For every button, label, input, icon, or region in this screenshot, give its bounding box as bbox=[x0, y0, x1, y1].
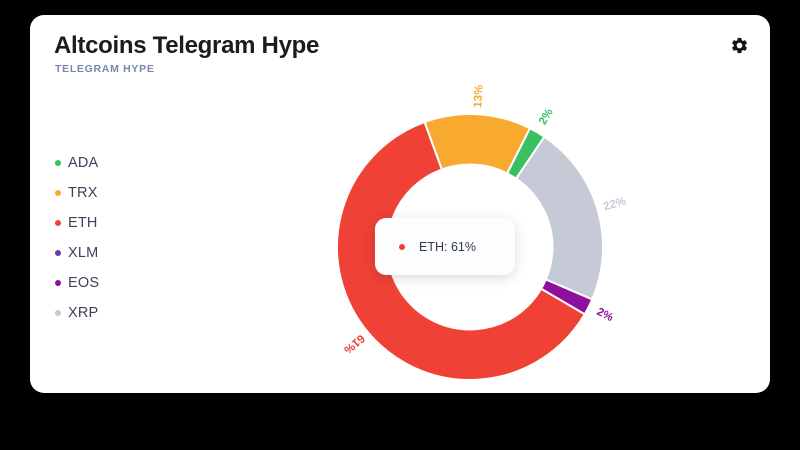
donut-slice[interactable] bbox=[516, 137, 603, 300]
legend-color-dot bbox=[55, 220, 61, 226]
legend-color-dot bbox=[55, 250, 61, 256]
legend-item-trx[interactable]: TRX bbox=[55, 178, 175, 208]
donut-slice-label: 2% bbox=[595, 306, 615, 324]
legend-item-eth[interactable]: ETH bbox=[55, 208, 175, 238]
legend-item-xlm[interactable]: XLM bbox=[55, 238, 175, 268]
settings-button[interactable] bbox=[726, 35, 752, 61]
legend-item-eos[interactable]: EOS bbox=[55, 268, 175, 298]
legend-color-dot bbox=[55, 310, 61, 316]
legend-color-dot bbox=[55, 190, 61, 196]
chart-card: Altcoins Telegram Hype TELEGRAM HYPE ADA… bbox=[30, 15, 770, 393]
legend-item-label: EOS bbox=[68, 275, 99, 291]
legend-item-label: ETH bbox=[68, 215, 98, 231]
legend-item-ada[interactable]: ADA bbox=[55, 148, 175, 178]
donut-slice-label: 22% bbox=[602, 195, 627, 213]
donut-slice-label: 2% bbox=[537, 107, 556, 127]
legend-item-label: XRP bbox=[68, 305, 98, 321]
chart-tooltip: ETH: 61% bbox=[375, 218, 515, 275]
legend-item-label: TRX bbox=[68, 185, 98, 201]
page-title: Altcoins Telegram Hype bbox=[54, 32, 319, 60]
gear-icon bbox=[730, 36, 749, 60]
legend-color-dot bbox=[55, 160, 61, 166]
legend-color-dot bbox=[55, 280, 61, 286]
tooltip-color-dot bbox=[399, 244, 405, 250]
card-subtitle: TELEGRAM HYPE bbox=[55, 63, 155, 75]
donut-slice-label: 61% bbox=[341, 332, 366, 356]
chart-legend: ADA TRX ETH XLM EOS XRP bbox=[55, 148, 175, 328]
legend-item-label: XLM bbox=[68, 245, 98, 261]
donut-chart: 13%2%22%2%61% ETH: 61% bbox=[270, 70, 740, 390]
legend-item-label: ADA bbox=[68, 155, 98, 171]
legend-item-xrp[interactable]: XRP bbox=[55, 298, 175, 328]
tooltip-label: ETH: 61% bbox=[419, 240, 476, 254]
donut-slice-label: 13% bbox=[472, 84, 485, 108]
